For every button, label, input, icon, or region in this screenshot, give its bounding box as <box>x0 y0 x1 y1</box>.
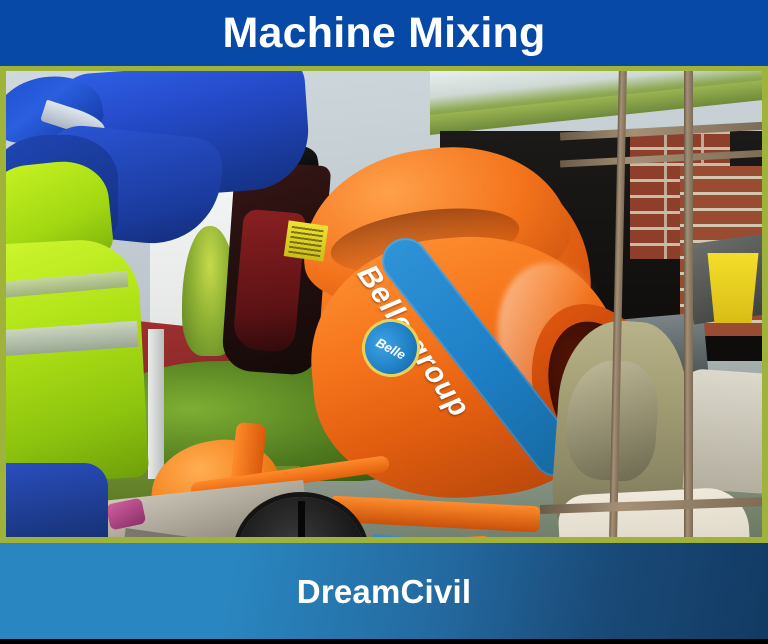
warning-label-shape <box>284 220 329 261</box>
page-title: Machine Mixing <box>223 12 546 55</box>
white-post-shape <box>148 329 164 479</box>
infographic-card: Machine Mixing <box>0 0 768 644</box>
brand-name: DreamCivil <box>297 575 471 608</box>
bottom-edge-strip <box>0 639 768 644</box>
mixer-photo: Belle group Belle Belle-group.co.uk <box>0 71 768 537</box>
belle-logo-badge-text: Belle <box>374 334 408 362</box>
scaffold-pole-vertical <box>684 71 693 537</box>
header-banner: Machine Mixing <box>0 0 768 66</box>
photo-frame: Belle group Belle Belle-group.co.uk <box>0 71 768 537</box>
mixer-frame-bar <box>329 496 540 533</box>
wheel-spoke <box>298 501 305 537</box>
worker-trousers-shape <box>0 463 108 537</box>
footer-banner: DreamCivil <box>0 543 768 639</box>
